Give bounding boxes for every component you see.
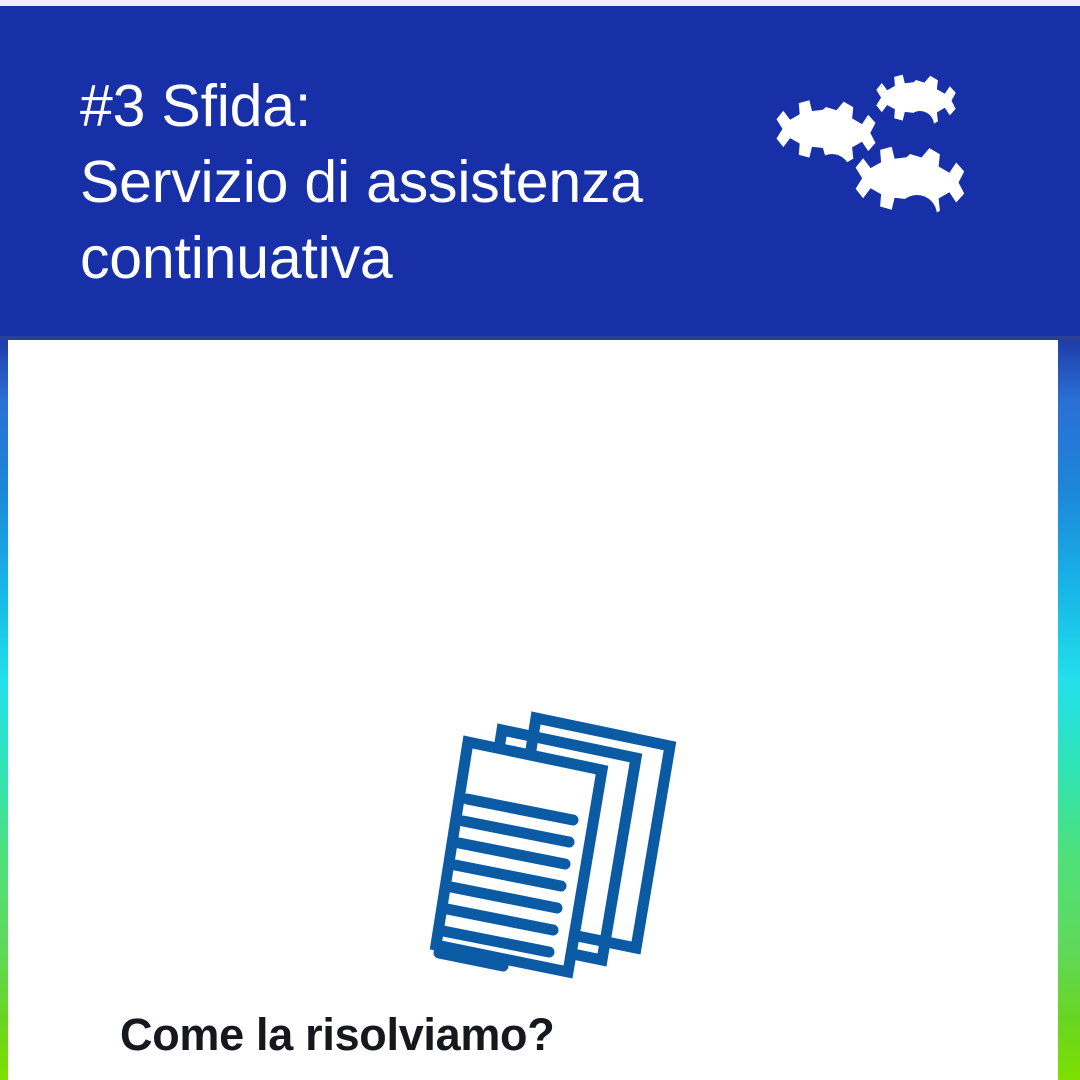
body-paragraph: Non è più necessario che siano gli utent…	[120, 1068, 940, 1080]
header-band: #3 Sfida: Servizio di assistenza continu…	[0, 6, 1080, 340]
body-text-block: Come la risolviamo? Non è più necessario…	[120, 1004, 940, 1080]
header-title: #3 Sfida: Servizio di assistenza continu…	[80, 68, 740, 296]
content-card: Come la risolviamo? Non è più necessario…	[8, 340, 1058, 1080]
gears-icon	[770, 72, 970, 262]
documents-stack-icon	[408, 702, 688, 984]
slide-canvas: #3 Sfida: Servizio di assistenza continu…	[0, 0, 1080, 1080]
right-gradient-strip	[1058, 340, 1080, 1080]
body-heading: Come la risolviamo?	[120, 1004, 940, 1066]
left-gradient-strip	[0, 340, 8, 1080]
